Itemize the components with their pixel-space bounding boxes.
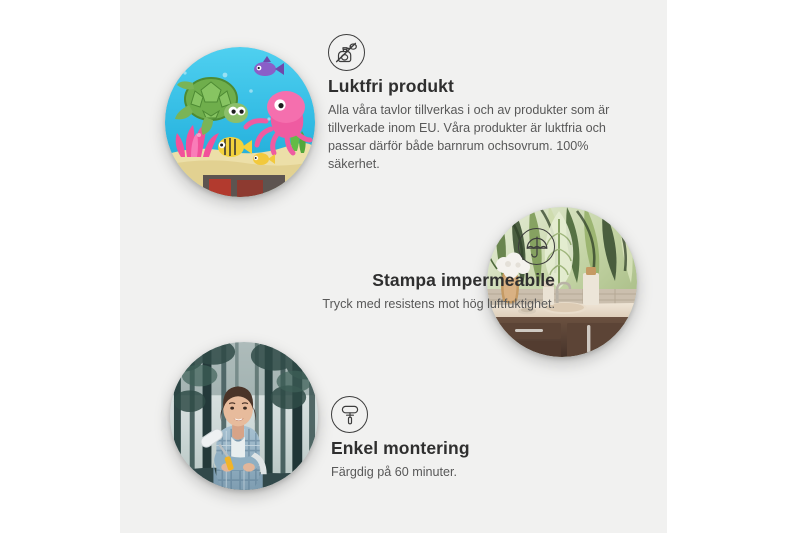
infographic-stage-panel: Luktfri produkt Alla våra tavlor tillver… [120, 0, 667, 533]
feature-body: Tryck med resistens mot hög luftfuktighe… [210, 295, 555, 313]
photo-painter-forest [170, 342, 318, 490]
feature-body: Färgdig på 60 minuter. [331, 463, 601, 481]
no-spray-bottle-icon [328, 34, 365, 71]
feature-easy-mounting: Enkel montering Färgdig på 60 minuter. [331, 396, 601, 481]
feature-title: Luktfri produkt [328, 76, 613, 98]
photo-ocean-mural [165, 47, 315, 197]
feature-odour-free: Luktfri produkt Alla våra tavlor tillver… [328, 34, 613, 173]
umbrella-icon [518, 228, 555, 265]
product-feature-infographic: Luktfri produkt Alla våra tavlor tillver… [0, 0, 800, 533]
feature-title: Enkel montering [331, 438, 601, 460]
feature-body: Alla våra tavlor tillverkas i och av pro… [328, 101, 613, 173]
feature-waterproof-print: Stampa impermeabile Tryck med resistens … [210, 228, 555, 313]
paint-roller-icon [331, 396, 368, 433]
feature-title: Stampa impermeabile [210, 270, 555, 292]
